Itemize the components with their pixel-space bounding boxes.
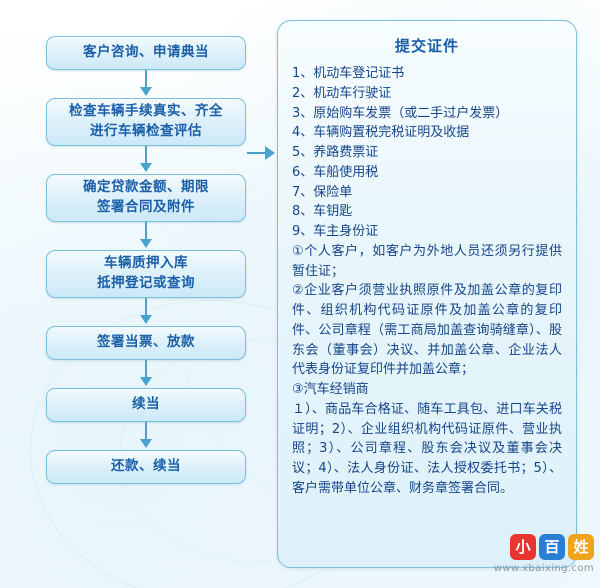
flow-node-1-line-1: 客户咨询、申请典当 — [83, 43, 209, 63]
flow-node-2[interactable]: 检查车辆手续真实、齐全 进行车辆检查评估 — [46, 98, 246, 146]
panel-title: 提交证件 — [292, 35, 562, 56]
document-item: 7、保险单 — [292, 183, 562, 203]
flow-node-2-line-1: 检查车辆手续真实、齐全 — [69, 102, 223, 122]
flow-arrow-3 — [46, 222, 246, 250]
flow-arrow-6 — [46, 422, 246, 450]
flow-node-6-line-1: 续当 — [132, 395, 160, 415]
document-item: 4、车辆购置税完税证明及收据 — [292, 123, 562, 143]
flow-to-panel-arrow — [247, 146, 277, 160]
flow-node-7[interactable]: 还款、续当 — [46, 450, 246, 484]
flow-node-6[interactable]: 续当 — [46, 388, 246, 422]
arrow-head-icon — [140, 377, 152, 386]
arrow-stem — [247, 152, 267, 154]
arrow-head-icon — [140, 163, 152, 172]
flow-node-1[interactable]: 客户咨询、申请典当 — [46, 36, 246, 70]
arrow-head-icon — [140, 439, 152, 448]
process-flow: 客户咨询、申请典当 检查车辆手续真实、齐全 进行车辆检查评估 确定贷款金额、期限… — [46, 36, 246, 484]
watermark-url: www.xbaixing.com — [482, 563, 594, 574]
arrow-head-icon — [140, 87, 152, 96]
arrow-head-icon — [265, 146, 275, 160]
flow-arrow-1 — [46, 70, 246, 98]
flow-arrow-2 — [46, 146, 246, 174]
document-item: 8、车钥匙 — [292, 202, 562, 222]
flow-node-2-line-2: 进行车辆检查评估 — [69, 122, 223, 142]
flow-arrow-5 — [46, 360, 246, 388]
document-item: 2、机动车行驶证 — [292, 84, 562, 104]
documents-panel: 提交证件 1、机动车登记证书 2、机动车行驶证 3、原始购车发票（或二手过户发票… — [277, 20, 577, 568]
flow-node-4[interactable]: 车辆质押入库 抵押登记或查询 — [46, 250, 246, 298]
document-note-dealer-title: ③汽车经销商 — [292, 380, 562, 400]
document-note-individual: ①个人客户，如客户为外地人员还须另行提供暂住证； — [292, 242, 562, 282]
document-item: 1、机动车登记证书 — [292, 64, 562, 84]
flow-node-4-line-2: 抵押登记或查询 — [97, 274, 195, 294]
flow-node-3[interactable]: 确定贷款金额、期限 签署合同及附件 — [46, 174, 246, 222]
watermark-char-1: 小 — [510, 534, 536, 560]
flow-node-5[interactable]: 签署当票、放款 — [46, 326, 246, 360]
document-note-dealer-body: １）、商品车合格证、随车工具包、进口车关税证明；2）、企业组织机构代码证原件、营… — [292, 400, 562, 499]
flow-node-7-line-1: 还款、续当 — [111, 457, 181, 477]
document-item: 6、车船使用税 — [292, 163, 562, 183]
document-item: 3、原始购车发票（或二手过户发票） — [292, 104, 562, 124]
document-note-enterprise: ②企业客户须营业执照原件及加盖公章的复印件、组织机构代码证原件及加盖公章的复印件… — [292, 281, 562, 380]
watermark: 小 百 姓 www.xbaixing.com — [482, 534, 594, 584]
arrow-head-icon — [140, 315, 152, 324]
diagram-canvas: 客户咨询、申请典当 检查车辆手续真实、齐全 进行车辆检查评估 确定贷款金额、期限… — [0, 0, 600, 588]
document-item: 5、养路费票证 — [292, 143, 562, 163]
watermark-logo: 小 百 姓 — [482, 534, 594, 560]
document-item: 9、车主身份证 — [292, 222, 562, 242]
watermark-char-2: 百 — [539, 534, 565, 560]
flow-node-3-line-1: 确定贷款金额、期限 — [83, 178, 209, 198]
arrow-head-icon — [140, 239, 152, 248]
flow-node-5-line-1: 签署当票、放款 — [97, 333, 195, 353]
flow-node-3-line-2: 签署合同及附件 — [83, 198, 209, 218]
flow-arrow-4 — [46, 298, 246, 326]
panel-body: 1、机动车登记证书 2、机动车行驶证 3、原始购车发票（或二手过户发票） 4、车… — [292, 64, 562, 499]
flow-node-4-line-1: 车辆质押入库 — [97, 254, 195, 274]
watermark-char-3: 姓 — [568, 534, 594, 560]
